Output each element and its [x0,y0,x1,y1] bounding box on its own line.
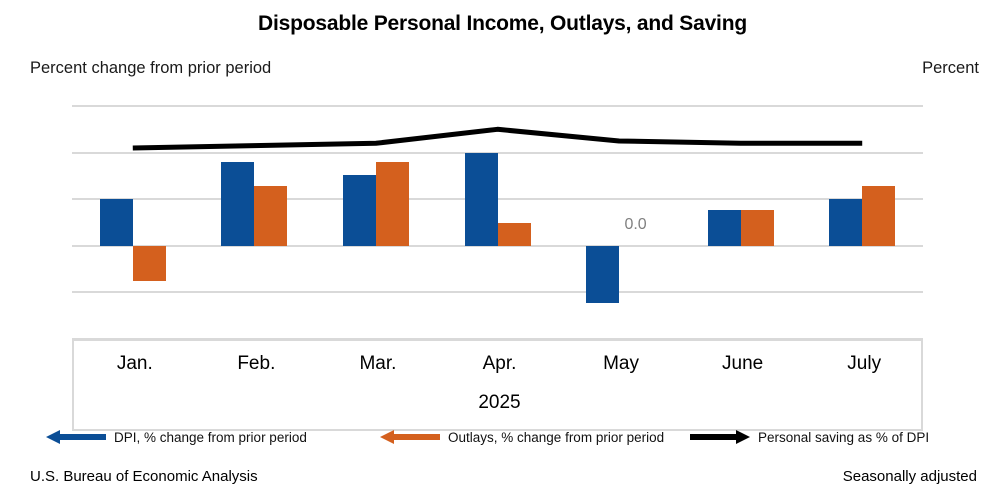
right-axis-caption: Percent [922,59,979,78]
legend-item[interactable]: Personal saving as % of DPI [690,429,929,445]
left-arrow-icon [46,429,106,445]
left-axis-caption: Percent change from prior period [30,59,271,78]
plot-area: -0.8-0.40.00.40.81.2 -4.0-2.00.02.04.06.… [72,106,923,339]
personal-saving-line [72,106,923,339]
period-label: 2025 [74,392,925,414]
x-axis-tick-label: May [564,353,678,375]
x-axis-tick-label: Jan. [78,353,192,375]
category-axis-box: Jan.Feb.Mar.Apr.MayJuneJuly 2025 [72,339,923,431]
left-arrow-icon [380,429,440,445]
legend-label: DPI, % change from prior period [114,430,307,445]
x-axis-tick-label: Feb. [199,353,313,375]
footer-note: Seasonally adjusted [843,468,977,485]
x-axis-tick-label: Mar. [321,353,435,375]
data-point-label: 0.0 [624,216,646,234]
legend-item[interactable]: Outlays, % change from prior period [380,429,664,445]
legend-label: Personal saving as % of DPI [758,430,929,445]
page-title: Disposable Personal Income, Outlays, and… [0,12,1005,36]
chart-page: Disposable Personal Income, Outlays, and… [0,0,1005,503]
x-axis-tick-label: July [807,353,921,375]
right-arrow-icon [690,429,750,445]
footer-source: U.S. Bureau of Economic Analysis [30,468,258,485]
chart-legend: DPI, % change from prior periodOutlays, … [0,429,1005,459]
legend-label: Outlays, % change from prior period [448,430,664,445]
x-axis-tick-label: June [686,353,800,375]
x-axis-tick-label: Apr. [443,353,557,375]
legend-item[interactable]: DPI, % change from prior period [46,429,307,445]
